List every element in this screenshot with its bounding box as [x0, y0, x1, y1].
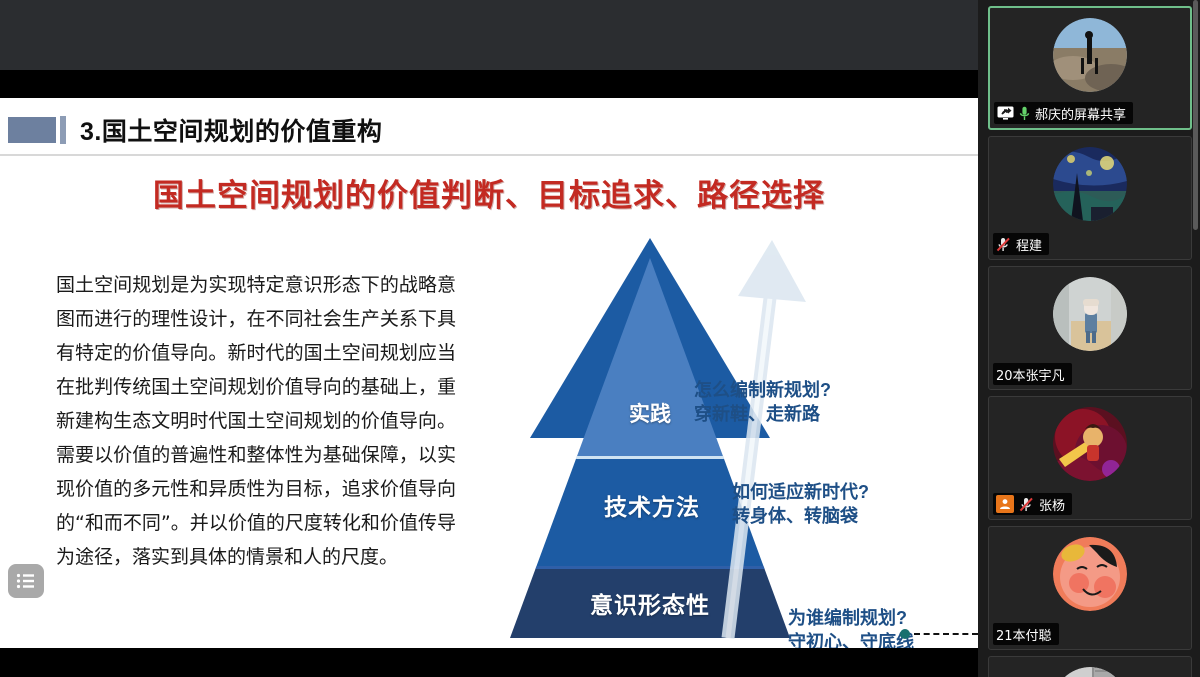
- presentation-slide: 3.国土空间规划的价值重构 国土空间规划的价值判断、目标追求、路径选择 国土空间…: [0, 98, 978, 648]
- dashed-connector-line: [914, 633, 978, 635]
- avatar: [1053, 18, 1127, 92]
- letterbox-bottom: [0, 648, 978, 677]
- pyramid-callout-3: 为谁编制规划? 守初心、守底线: [788, 606, 914, 648]
- avatar-anime-character: [1053, 407, 1127, 481]
- participant-sidebar[interactable]: 郝庆的屏幕共享: [978, 0, 1200, 677]
- screen-share-meeting-window: 3.国土空间规划的价值重构 国土空间规划的价值判断、目标追求、路径选择 国土空间…: [0, 0, 1200, 677]
- participant-tile[interactable]: 郝庆的屏幕共享: [988, 6, 1192, 130]
- mic-active-icon: [1019, 106, 1030, 121]
- avatar-child-walking: [1053, 277, 1127, 351]
- screen-share-icon: [997, 106, 1014, 120]
- slide-section-title: 3.国土空间规划的价值重构: [80, 112, 382, 148]
- host-badge-icon: [996, 495, 1014, 513]
- participant-name-bar: 20本张宇凡: [993, 363, 1072, 385]
- mic-muted-icon: [996, 237, 1011, 252]
- participant-tile[interactable]: [988, 656, 1192, 677]
- participant-name: 21本付聪: [996, 625, 1052, 644]
- pyramid-level-3-label: 意识形态性: [510, 586, 790, 620]
- callout-3-question: 为谁编制规划?: [788, 606, 914, 630]
- slide-main-title: 国土空间规划的价值判断、目标追求、路径选择: [0, 170, 978, 215]
- participant-name-bar: 程建: [993, 233, 1049, 255]
- list-icon-glyph: [16, 573, 36, 589]
- avatar: [1053, 537, 1127, 611]
- sidebar-scrollbar-thumb[interactable]: [1193, 0, 1198, 230]
- participant-tile[interactable]: 程建: [988, 136, 1192, 260]
- participant-tile[interactable]: 21本付聪: [988, 526, 1192, 650]
- teal-dot-icon: [900, 629, 910, 639]
- participant-name-bar: 郝庆的屏幕共享: [994, 102, 1133, 124]
- participant-name: 20本张宇凡: [996, 365, 1065, 384]
- participant-tile[interactable]: 20本张宇凡: [988, 266, 1192, 390]
- callout-1-answer: 穿新鞋、走新路: [694, 402, 831, 426]
- sidebar-scrollbar-track[interactable]: [1194, 0, 1199, 677]
- slide-header: 3.国土空间规划的价值重构: [0, 106, 978, 154]
- participant-name-bar: 张杨: [993, 493, 1072, 515]
- list-icon[interactable]: [8, 564, 44, 598]
- header-accent-bar: [60, 116, 66, 144]
- app-top-bar: [0, 0, 978, 70]
- avatar: [1053, 667, 1127, 677]
- letterbox-top: [0, 70, 978, 98]
- mic-muted-icon: [1019, 497, 1034, 512]
- callout-1-question: 怎么编制新规划?: [694, 378, 831, 402]
- callout-2-answer: 转身体、转脑袋: [732, 504, 869, 528]
- participant-name: 郝庆的屏幕共享: [1035, 104, 1126, 123]
- avatar-starry-night: [1053, 147, 1127, 221]
- slide-body-paragraph: 国土空间规划是为实现特定意识形态下的战略意图而进行的理性设计，在不同社会生产关系…: [56, 268, 456, 574]
- avatar: [1053, 407, 1127, 481]
- header-accent-block: [8, 117, 56, 143]
- avatar-cartoon-face: [1053, 537, 1127, 611]
- avatar-bw-photo: [1053, 667, 1127, 677]
- participant-name: 程建: [1016, 235, 1042, 254]
- pyramid-callout-1: 怎么编制新规划? 穿新鞋、走新路: [694, 378, 831, 426]
- header-divider: [0, 154, 978, 156]
- participant-name-bar: 21本付聪: [993, 623, 1059, 645]
- slide-connector-marker: [900, 628, 978, 640]
- pyramid-figure: 实践 技术方法 意识形态性 怎么编制新规划? 穿新鞋、走新路 如何适应新时代? …: [470, 238, 970, 638]
- pyramid-callout-2: 如何适应新时代? 转身体、转脑袋: [732, 480, 869, 528]
- callout-2-question: 如何适应新时代?: [732, 480, 869, 504]
- callout-3-answer: 守初心、守底线: [788, 630, 914, 648]
- avatar-hiker-silhouette: [1053, 18, 1127, 92]
- avatar: [1053, 277, 1127, 351]
- participant-name: 张杨: [1039, 495, 1065, 514]
- participant-tile[interactable]: 张杨: [988, 396, 1192, 520]
- avatar: [1053, 147, 1127, 221]
- shared-screen-area[interactable]: 3.国土空间规划的价值重构 国土空间规划的价值判断、目标追求、路径选择 国土空间…: [0, 0, 978, 677]
